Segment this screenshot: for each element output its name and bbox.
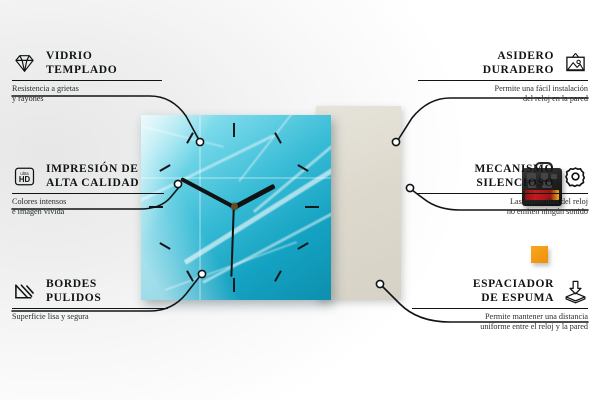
feature-title-line2: SILENCIOSO xyxy=(474,177,554,191)
feature-title-line2: PULIDOS xyxy=(46,292,101,306)
feature-desc-line2: del reloj en la pared xyxy=(418,94,588,104)
connector-endpoint-espaciador xyxy=(376,280,383,287)
feature-title-line1: BORDES xyxy=(46,278,101,292)
feature-desc-line1: Las manecillas del reloj xyxy=(416,197,588,207)
feature-vidrio-templado: VIDRIO TEMPLADO Resistencia a grietas y … xyxy=(12,50,172,104)
feature-rule xyxy=(412,308,588,309)
feature-desc-line1: Resistencia a grietas xyxy=(12,84,172,94)
feature-asidero-duradero: ASIDERO DURADERO Permite una fácil insta… xyxy=(418,50,588,104)
feature-bordes-pulidos: BORDES PULIDOS Superficie lisa y segura xyxy=(12,278,178,322)
feature-mecanismo-silencioso: MECANISMO SILENCIOSO Las manecillas del … xyxy=(416,163,588,217)
feature-rule xyxy=(12,308,168,309)
connector-endpoint-vidrio xyxy=(196,138,203,145)
feature-desc-line2: uniforme entre el reloj y la pared xyxy=(412,322,588,332)
connector-endpoint-mecanismo xyxy=(406,184,413,191)
diamond-icon xyxy=(12,51,37,76)
feature-title-line1: VIDRIO xyxy=(46,50,117,64)
picture-frame-hanger-icon xyxy=(563,51,588,76)
feature-title-line1: ASIDERO xyxy=(483,50,554,64)
feature-rule xyxy=(12,80,162,81)
connector-endpoint-asidero xyxy=(392,138,399,145)
feature-desc-line2: no emiten ningún sonido xyxy=(416,207,588,217)
ultra-hd-badge-icon: ultra HD xyxy=(12,164,37,189)
feature-impresion-alta-calidad: ultra HD IMPRESIÓN DE ALTA CALIDAD Color… xyxy=(12,163,174,217)
feature-title-line1: MECANISMO xyxy=(474,163,554,177)
svg-text:HD: HD xyxy=(19,175,31,184)
feature-title-line1: IMPRESIÓN DE xyxy=(46,163,139,177)
feature-desc-line2: y rayones xyxy=(12,94,172,104)
gear-icon xyxy=(563,164,588,189)
feature-desc-line1: Permite mantener una distancia xyxy=(412,312,588,322)
feature-desc-line2: e imagen vívida xyxy=(12,207,174,217)
feature-title-line2: ALTA CALIDAD xyxy=(46,177,139,191)
infographic-canvas: VIDRIO TEMPLADO Resistencia a grietas y … xyxy=(0,0,600,400)
feature-title-line2: TEMPLADO xyxy=(46,64,117,78)
feature-rule xyxy=(12,193,164,194)
connector-endpoint-impresion xyxy=(174,180,181,187)
feature-rule xyxy=(418,80,588,81)
feature-desc-line1: Superficie lisa y segura xyxy=(12,312,178,322)
feature-title-line1: ESPACIADOR xyxy=(473,278,554,292)
feature-title-line2: DE ESPUMA xyxy=(473,292,554,306)
feature-espaciador-de-espuma: ESPACIADOR DE ESPUMA Permite mantener un… xyxy=(412,278,588,332)
feature-desc-line1: Colores intensos xyxy=(12,197,174,207)
feature-desc-line1: Permite una fácil instalación xyxy=(418,84,588,94)
polished-edges-icon xyxy=(12,279,37,304)
feature-rule xyxy=(416,193,588,194)
feature-title-line2: DURADERO xyxy=(483,64,554,78)
connector-endpoint-bordes xyxy=(198,270,205,277)
foam-spacer-arrow-icon xyxy=(563,279,588,304)
